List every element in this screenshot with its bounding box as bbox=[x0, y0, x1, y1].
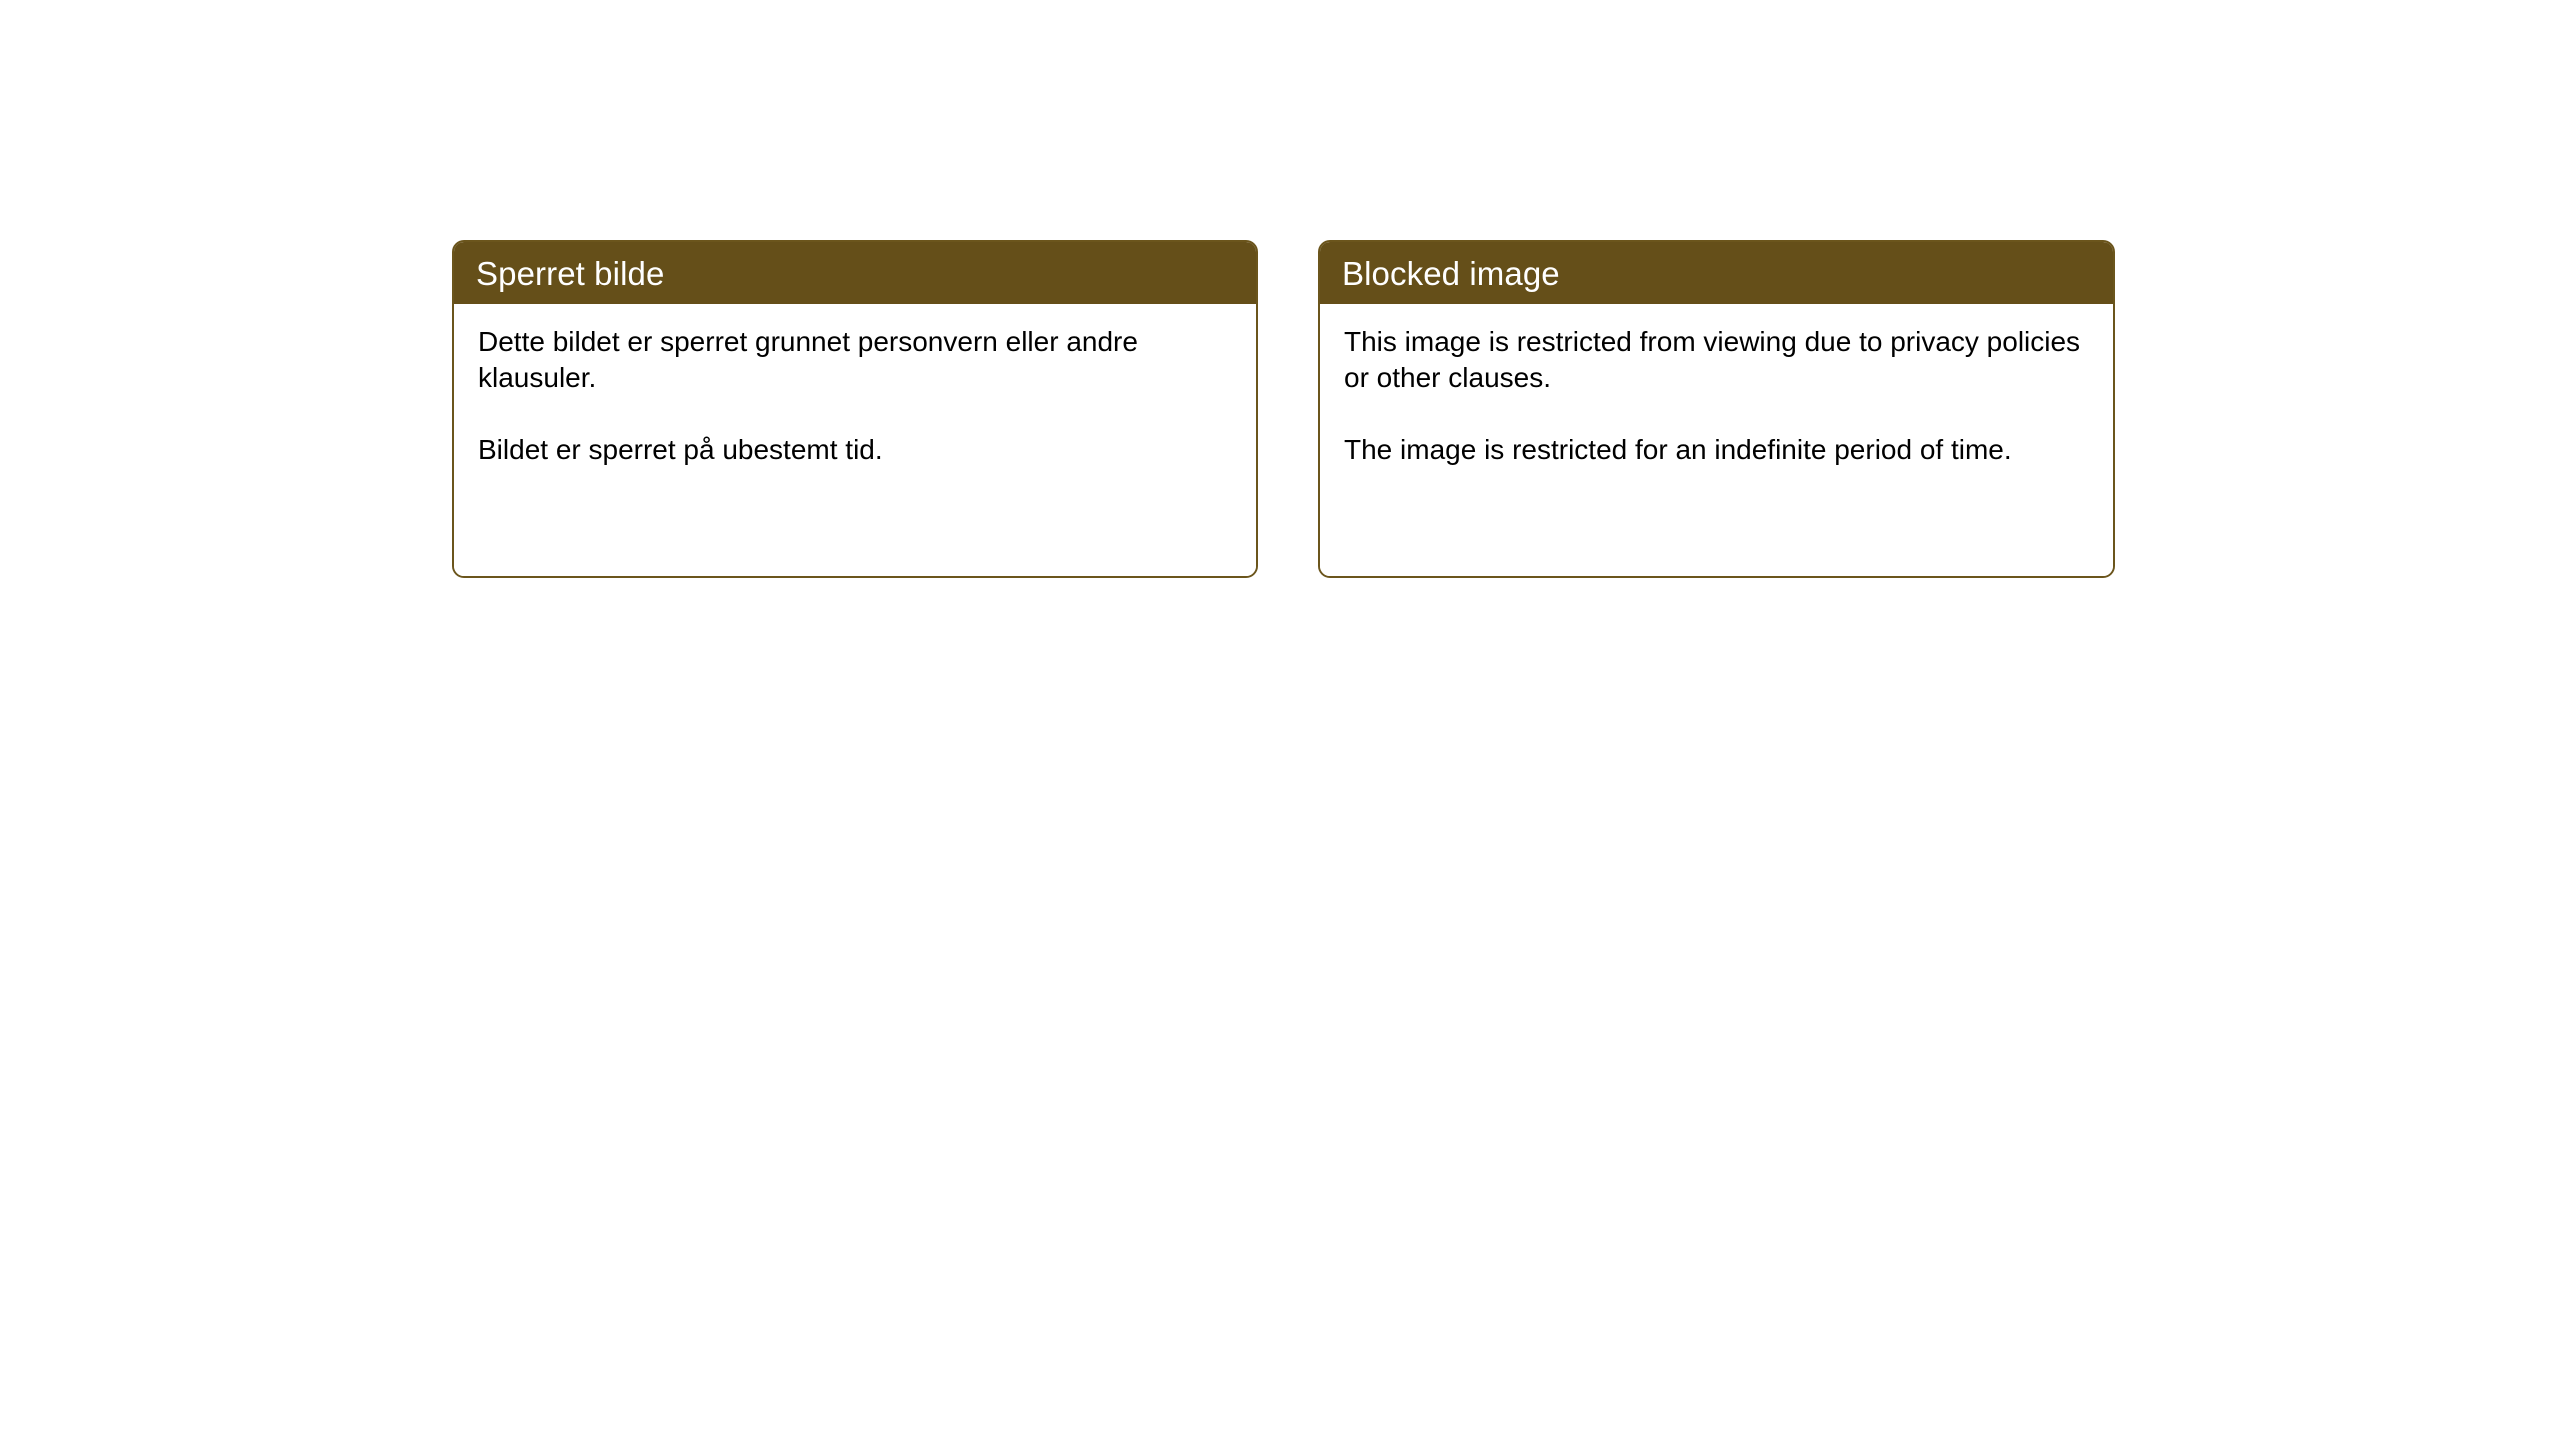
card-paragraph-en-1: This image is restricted from viewing du… bbox=[1344, 324, 2089, 396]
notice-card-row: Sperret bilde Dette bildet er sperret gr… bbox=[452, 240, 2115, 578]
paragraph-spacer-en bbox=[1344, 396, 2089, 432]
card-title-en: Blocked image bbox=[1342, 257, 1560, 290]
page-root: Sperret bilde Dette bildet er sperret gr… bbox=[0, 0, 2560, 1440]
blocked-image-notice-card-no: Sperret bilde Dette bildet er sperret gr… bbox=[452, 240, 1258, 578]
card-header-en: Blocked image bbox=[1320, 242, 2113, 304]
blocked-image-notice-card-en: Blocked image This image is restricted f… bbox=[1318, 240, 2115, 578]
card-paragraph-no-1: Dette bildet er sperret grunnet personve… bbox=[478, 324, 1232, 396]
card-title-no: Sperret bilde bbox=[476, 257, 664, 290]
card-paragraph-en-2: The image is restricted for an indefinit… bbox=[1344, 432, 2089, 468]
card-paragraph-no-2: Bildet er sperret på ubestemt tid. bbox=[478, 432, 1232, 468]
card-body-no: Dette bildet er sperret grunnet personve… bbox=[454, 304, 1256, 576]
card-header-no: Sperret bilde bbox=[454, 242, 1256, 304]
paragraph-spacer-no bbox=[478, 396, 1232, 432]
card-body-en: This image is restricted from viewing du… bbox=[1320, 304, 2113, 576]
